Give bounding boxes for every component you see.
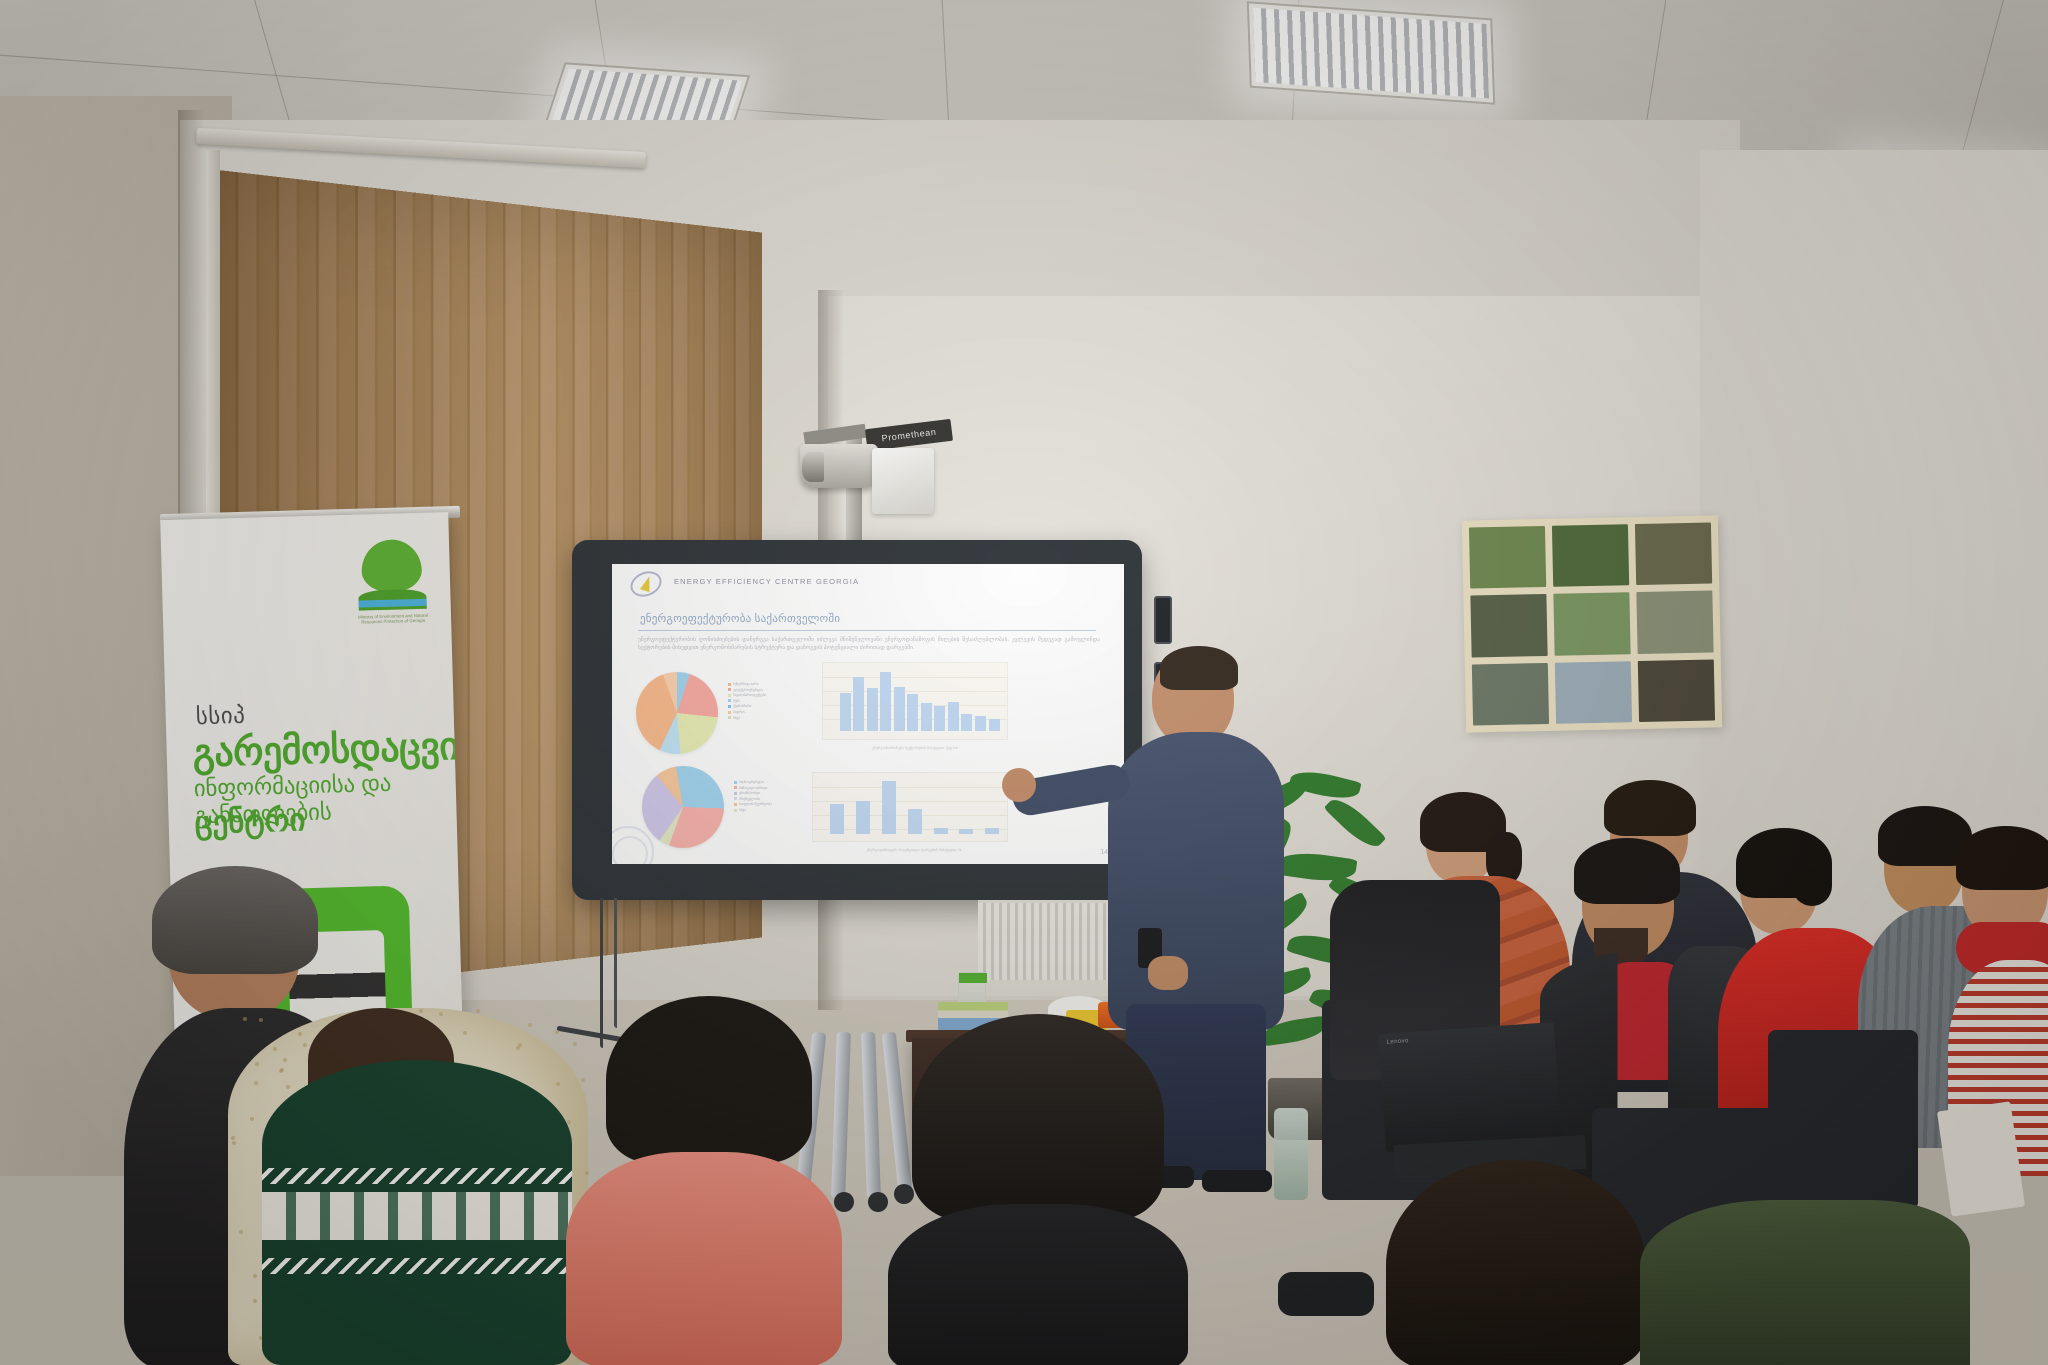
stand-caster xyxy=(868,1192,888,1212)
slide-header: ENERGY EFFICIENCY CENTRE GEORGIA xyxy=(674,577,859,586)
pie-chart-1-legend: ბუნებრივი აირი ელექტროენერგია ნავთობპროდ… xyxy=(728,682,766,721)
bar-chart-energy-consumption xyxy=(822,662,1008,740)
photo-tile xyxy=(1472,663,1549,726)
photo-tile xyxy=(1555,661,1632,724)
slide-body-text: ენერგოეფექტურობის ღონისძიებების დანერგვა… xyxy=(638,636,1100,652)
head-hair xyxy=(912,1014,1164,1222)
pie-chart-energy-structure xyxy=(636,672,718,754)
presenter-hand-right xyxy=(1148,956,1188,990)
pen-tray-slot[interactable] xyxy=(1154,596,1172,644)
bar-chart-top-caption: ენერგომოხმარება სექტორების მიხედვით, ქვტ… xyxy=(800,746,1030,750)
slide-title: ენერგოეფექტურობა საქართველოში xyxy=(640,612,840,625)
audience-person-dark-bob-right-front xyxy=(1366,1160,1666,1365)
whiteboard-screen[interactable]: ENERGY EFFICIENCY CENTRE GEORGIA ენერგოე… xyxy=(612,564,1124,864)
ceiling-light-panel xyxy=(1247,1,1495,105)
projector-mirror-panel xyxy=(872,448,934,514)
photo-tile xyxy=(1635,522,1712,585)
audience-person-child-front xyxy=(888,1014,1188,1365)
pie-chart-saving-potential xyxy=(642,766,724,848)
banner-line3: ცენტრი xyxy=(194,802,306,841)
bar-chart-bottom-caption: ენერგოდაზოგვის პოტენციალი დარგების მიხედ… xyxy=(794,848,1034,852)
bar-chart-saving-potential xyxy=(812,772,1008,842)
presenter-hand xyxy=(1002,768,1036,802)
head-hair xyxy=(606,996,812,1164)
eec-logo-icon xyxy=(630,572,664,598)
photo-tile xyxy=(1469,526,1546,589)
photo-tile xyxy=(1552,524,1629,587)
slide-title-rule xyxy=(638,630,1096,631)
tree-icon xyxy=(361,539,422,593)
photo-tile xyxy=(1553,593,1630,656)
ministry-logo: Ministry of Environment and Natural Reso… xyxy=(355,539,429,627)
bar-series-top xyxy=(840,669,1000,731)
audience-person-green-fairisle-sweater xyxy=(262,1010,582,1365)
ministry-caption: Ministry of Environment and Natural Reso… xyxy=(357,613,429,626)
photo-display-board xyxy=(1462,515,1722,732)
sneaker xyxy=(1278,1272,1374,1316)
slide-watermark-icon xyxy=(612,826,654,864)
audience-person-salmon-top xyxy=(566,1002,842,1365)
stand-leg xyxy=(861,1032,881,1198)
laptop-brand-label: Lenovo xyxy=(1386,1038,1408,1046)
water-bottle xyxy=(1274,1108,1308,1200)
bar-series-bottom xyxy=(830,778,999,834)
photo-tile xyxy=(1636,591,1713,654)
projector-lens xyxy=(802,452,824,482)
photo-tile xyxy=(1470,594,1547,657)
presenter-shoe xyxy=(1202,1170,1272,1192)
head-hair xyxy=(1386,1160,1646,1365)
pie-chart-2-legend: საცხოვრებელი საზოგადოებრივი ტრანსპორტი მ… xyxy=(734,780,772,814)
photo-tile xyxy=(1638,659,1715,722)
presenter-torso xyxy=(1108,732,1284,1030)
banner-org-prefix: სსიპ xyxy=(195,702,245,730)
notebook xyxy=(1937,1101,2025,1216)
presentation-slide: ENERGY EFFICIENCY CENTRE GEORGIA ენერგოე… xyxy=(612,564,1124,864)
presenter-hair xyxy=(1160,646,1238,690)
laptop-lid[interactable]: Lenovo xyxy=(1378,1022,1562,1152)
room-photo-scene: Ministry of Environment and Natural Reso… xyxy=(0,0,2048,1365)
audience-person-green-jacket-right-front xyxy=(1640,1200,1970,1365)
